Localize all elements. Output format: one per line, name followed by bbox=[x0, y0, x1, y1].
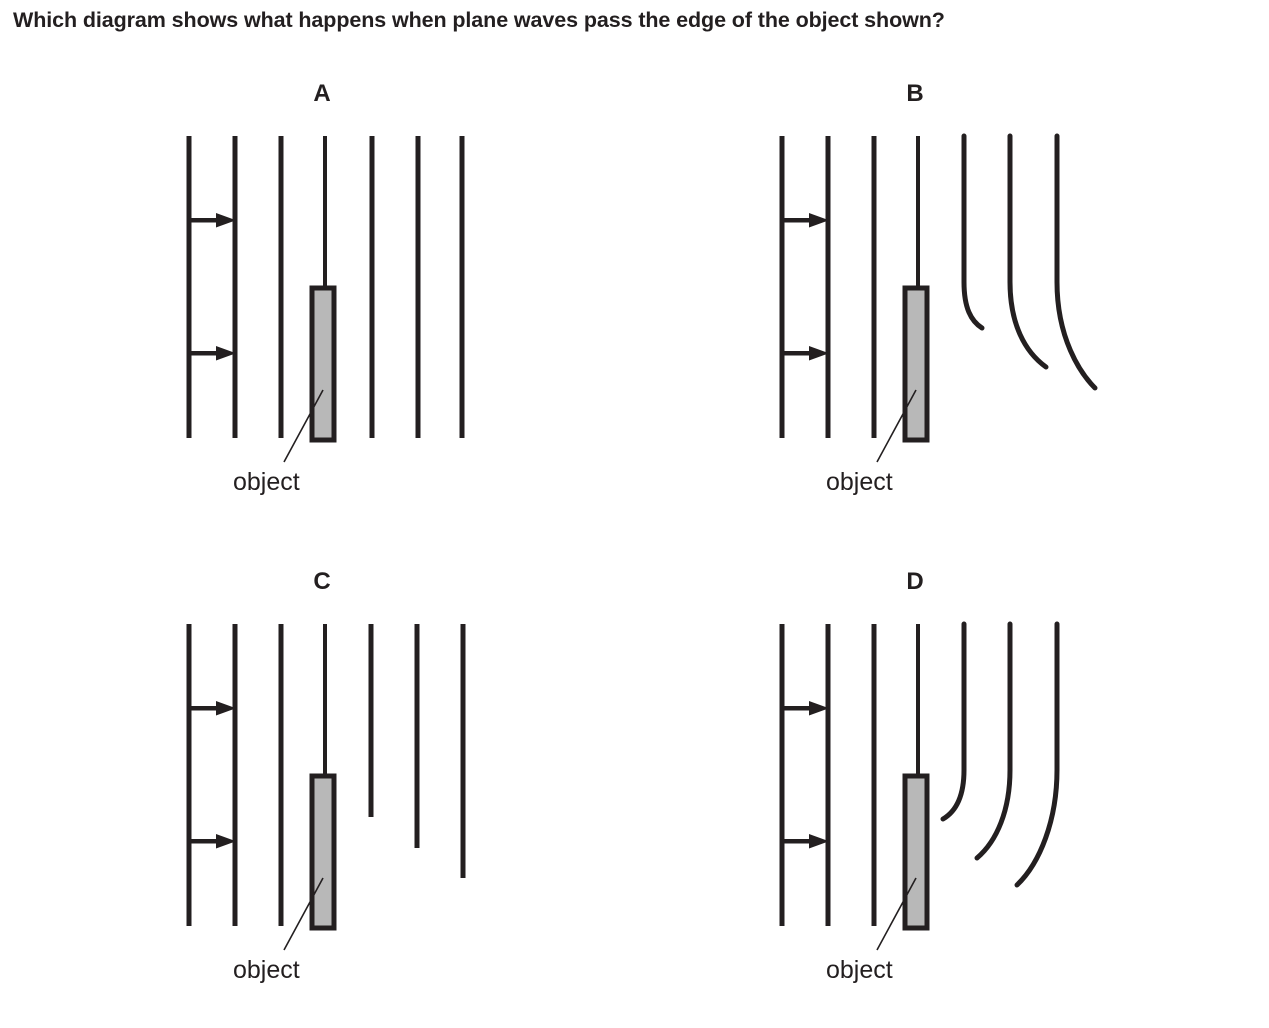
diagram-panel-c: C object bbox=[0, 558, 540, 1028]
arrow-head bbox=[809, 213, 829, 228]
arrow-group-c bbox=[0, 558, 540, 1028]
diagram-panel-b: B object bbox=[593, 70, 1133, 540]
arrow-head bbox=[809, 834, 829, 849]
arrow-head bbox=[216, 346, 236, 361]
arrow-head bbox=[216, 701, 236, 716]
arrow-head bbox=[216, 834, 236, 849]
arrow-head bbox=[216, 213, 236, 228]
arrow-group-b bbox=[593, 70, 1133, 540]
diagram-panel-a: A object bbox=[0, 70, 540, 540]
arrow-group-a bbox=[0, 70, 540, 540]
arrow-group-d bbox=[593, 558, 1133, 1028]
diagram-panel-d: D object bbox=[593, 558, 1133, 1028]
page-title: Which diagram shows what happens when pl… bbox=[13, 8, 945, 33]
arrow-head bbox=[809, 346, 829, 361]
arrow-head bbox=[809, 701, 829, 716]
